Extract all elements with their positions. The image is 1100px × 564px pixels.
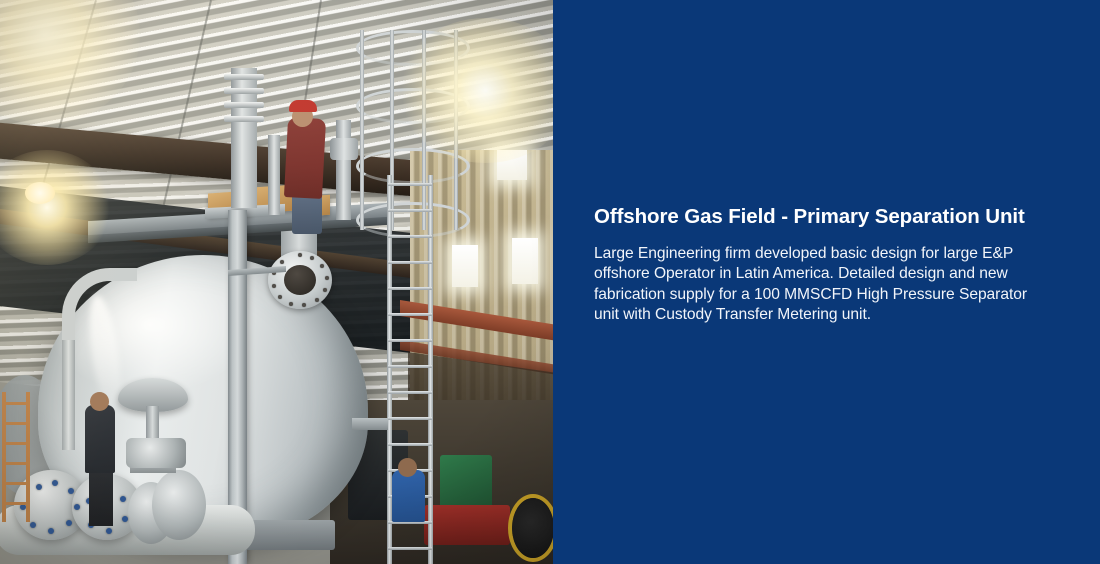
flange-bolt: [325, 276, 329, 280]
valve-bolt: [66, 520, 72, 526]
ladder-rung: [388, 365, 432, 368]
wall-window-1: [452, 245, 478, 287]
vertical-pipe-2: [336, 120, 351, 220]
cage-hoop: [356, 88, 470, 124]
valve-flange-2: [152, 470, 206, 540]
valve-bolt: [74, 504, 80, 510]
flange-bolt: [320, 264, 324, 268]
worker-dark-shirt-head: [90, 392, 109, 411]
cage-vertical-bar: [454, 30, 458, 230]
vessel-saddle: [245, 520, 335, 550]
ladder-rung: [388, 235, 432, 238]
ladder-rung: [388, 417, 432, 420]
flange-bolt: [315, 298, 319, 302]
worker-blue-shirt-body: [392, 470, 425, 522]
spool-rib: [224, 88, 264, 94]
vessel-flange-bore: [284, 265, 316, 295]
worker-red-cap: [289, 100, 317, 112]
valve-bolt: [52, 480, 58, 486]
ladder-rung: [388, 391, 432, 394]
flange-bolt: [323, 288, 327, 292]
flange-bolt: [278, 295, 282, 299]
ladder-rung: [388, 183, 432, 186]
worker-blue-shirt-head: [398, 458, 417, 477]
ladder-rung: [388, 287, 432, 290]
vessel-side-bracket: [352, 418, 388, 430]
cage-hoop: [356, 30, 470, 66]
ladder-rung: [388, 261, 432, 264]
valve-bolt: [106, 528, 112, 534]
worker-red-shirt-body: [284, 117, 326, 199]
wall-window-3: [497, 150, 527, 180]
valve-bolt: [120, 496, 126, 502]
flange-bolt: [310, 256, 314, 260]
ladder-rung: [388, 443, 432, 446]
flange-bolt: [272, 284, 276, 288]
project-title: Offshore Gas Field - Primary Separation …: [594, 205, 1049, 230]
description-panel-content: Offshore Gas Field - Primary Separation …: [594, 205, 1049, 326]
flange-bolt: [298, 253, 302, 257]
valve-bolt: [36, 484, 42, 490]
flange-bolt: [302, 303, 306, 307]
step-ladder: [2, 392, 30, 522]
spool-rib: [224, 74, 264, 80]
wall-window-2: [512, 238, 538, 284]
description-panel: Offshore Gas Field - Primary Separation …: [553, 0, 1100, 564]
valve-block-top: [330, 138, 358, 160]
spool-rib: [224, 116, 264, 122]
worker-dark-shirt-legs: [89, 468, 113, 526]
valve-bolt: [30, 522, 36, 528]
ladder-rung: [388, 339, 432, 342]
yellow-trim-object: [512, 498, 553, 558]
flange-bolt: [289, 302, 293, 306]
vertical-pipe-1: [268, 135, 280, 215]
project-showcase-card: Offshore Gas Field - Primary Separation …: [0, 0, 1100, 564]
ladder-rail-right: [428, 175, 433, 564]
valve-bolt: [68, 488, 74, 494]
spool-rib: [224, 102, 264, 108]
cage-vertical-bar: [360, 30, 364, 230]
flange-bolt: [280, 260, 284, 264]
ladder-rung: [388, 313, 432, 316]
pipe-vertical-run: [62, 340, 75, 450]
gate-valve-3: [126, 438, 186, 468]
valve-bolt: [48, 528, 54, 534]
project-photo: [0, 0, 553, 564]
tool-cart: [424, 505, 510, 545]
project-description: Large Engineering firm developed basic d…: [594, 244, 1049, 326]
worker-dark-shirt-body: [85, 405, 115, 473]
ladder-rung: [388, 547, 432, 550]
valve-bolt: [122, 516, 128, 522]
ladder-rung: [388, 209, 432, 212]
